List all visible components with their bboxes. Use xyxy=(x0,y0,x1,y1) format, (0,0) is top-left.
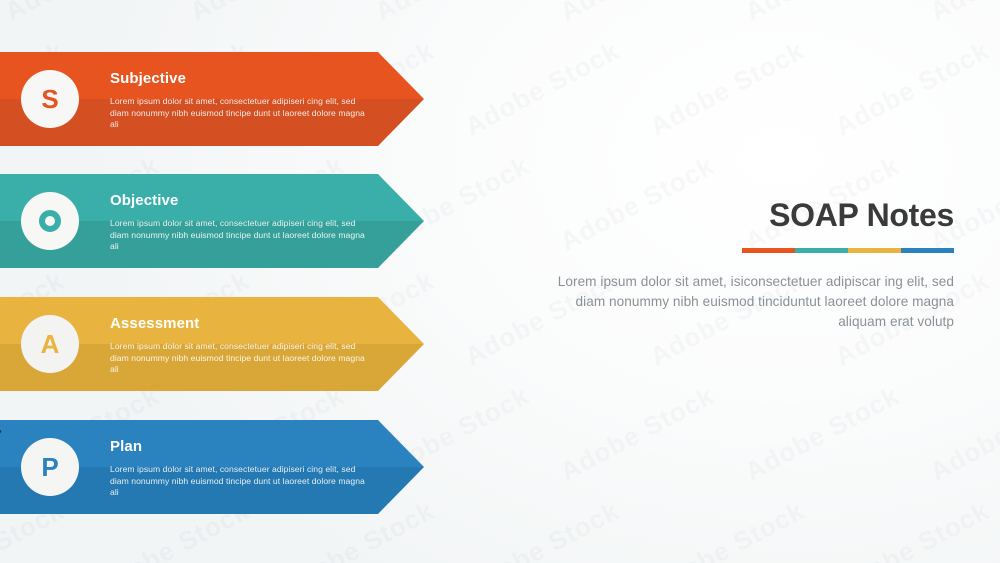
watermark-tile: Adobe Stock xyxy=(555,0,720,27)
watermark-tile: Adobe Stock xyxy=(460,35,625,142)
badge-letter-glyph: S xyxy=(41,86,58,112)
row-text-block-plan: PlanLorem ipsum dolor sit amet, consecte… xyxy=(110,420,372,514)
accent-segment-2 xyxy=(795,248,848,253)
panel-description: Lorem ipsum dolor sit amet, isiconsectet… xyxy=(554,272,954,332)
watermark-tile: Adobe Stock xyxy=(740,0,905,27)
letter-badge-plan: P xyxy=(21,438,79,496)
watermark-tile: Adobe Stock xyxy=(830,35,995,142)
stock-watermark-label: Adobe Stock | #981956283 xyxy=(0,318,2,555)
infographic-canvas: Adobe StockAdobe StockAdobe StockAdobe S… xyxy=(0,0,1000,563)
title-panel: SOAP Notes Lorem ipsum dolor sit amet, i… xyxy=(554,198,954,332)
row-title-subjective: Subjective xyxy=(110,71,186,87)
badge-ring-glyph xyxy=(39,210,61,232)
accent-segment-1 xyxy=(742,248,795,253)
watermark-tile: Adobe Stock xyxy=(925,380,1000,487)
watermark-tile: Adobe Stock xyxy=(830,495,995,563)
watermark-tile: Adobe Stock xyxy=(645,495,810,563)
letter-badge-objective xyxy=(21,192,79,250)
accent-segment-4 xyxy=(901,248,954,253)
watermark-tile: Adobe Stock xyxy=(925,0,1000,27)
soap-rows-group: SSubjectiveLorem ipsum dolor sit amet, c… xyxy=(0,0,440,563)
watermark-tile: Adobe Stock xyxy=(645,35,810,142)
letter-badge-subjective: S xyxy=(21,70,79,128)
row-description-subjective: Lorem ipsum dolor sit amet, consectetuer… xyxy=(110,96,368,131)
soap-row-assessment[interactable]: AAssessmentLorem ipsum dolor sit amet, c… xyxy=(0,297,424,391)
row-text-block-subjective: SubjectiveLorem ipsum dolor sit amet, co… xyxy=(110,52,372,146)
row-title-plan: Plan xyxy=(110,439,142,455)
row-description-plan: Lorem ipsum dolor sit amet, consectetuer… xyxy=(110,464,368,499)
letter-badge-assessment: A xyxy=(21,315,79,373)
soap-row-subjective[interactable]: SSubjectiveLorem ipsum dolor sit amet, c… xyxy=(0,52,424,146)
row-title-assessment: Assessment xyxy=(110,316,199,332)
row-title-objective: Objective xyxy=(110,193,178,209)
row-description-objective: Lorem ipsum dolor sit amet, consectetuer… xyxy=(110,218,368,253)
accent-segment-3 xyxy=(848,248,901,253)
accent-color-bar xyxy=(742,248,954,253)
soap-row-plan[interactable]: PPlanLorem ipsum dolor sit amet, consect… xyxy=(0,420,424,514)
row-description-assessment: Lorem ipsum dolor sit amet, consectetuer… xyxy=(110,341,368,376)
page-title: SOAP Notes xyxy=(554,198,954,232)
soap-row-objective[interactable]: ObjectiveLorem ipsum dolor sit amet, con… xyxy=(0,174,424,268)
watermark-tile: Adobe Stock xyxy=(555,380,720,487)
watermark-tile: Adobe Stock xyxy=(460,495,625,563)
watermark-tile: Adobe Stock xyxy=(740,380,905,487)
row-text-block-assessment: AssessmentLorem ipsum dolor sit amet, co… xyxy=(110,297,372,391)
badge-letter-glyph: P xyxy=(41,454,58,480)
row-text-block-objective: ObjectiveLorem ipsum dolor sit amet, con… xyxy=(110,174,372,268)
badge-letter-glyph: A xyxy=(41,331,60,357)
